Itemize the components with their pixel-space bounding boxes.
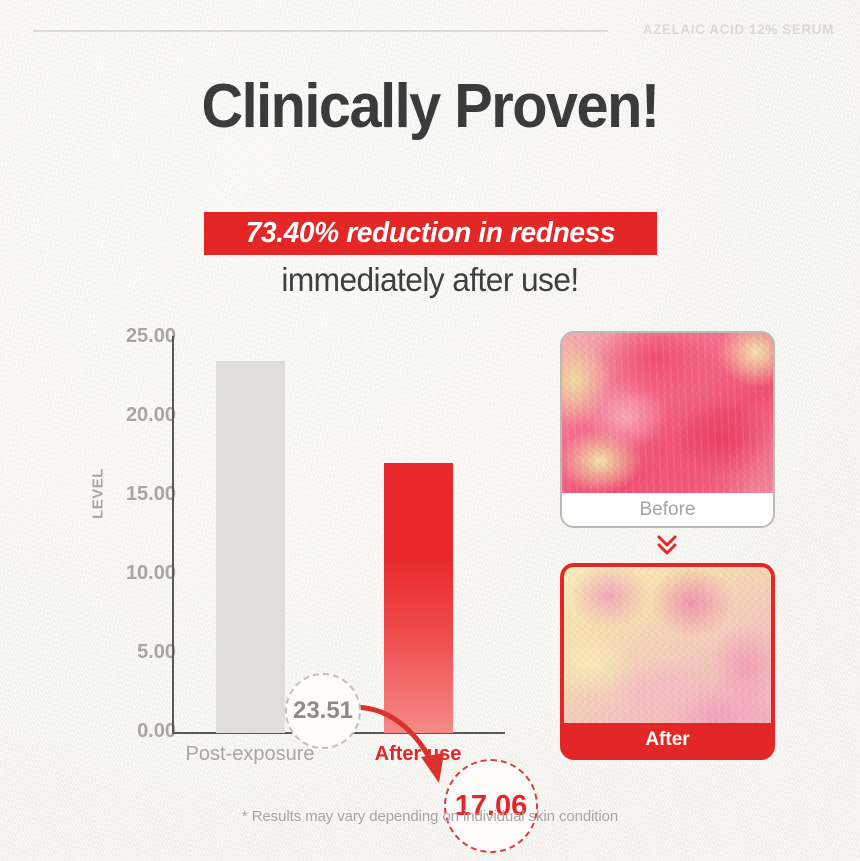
- y-axis-line: [172, 336, 174, 734]
- value-bubble-before-text: 23.51: [293, 697, 353, 725]
- y-tick-10: 10.00: [84, 562, 176, 585]
- bar-after-use: [384, 463, 453, 733]
- y-tick-25: 25.00: [84, 325, 176, 348]
- subheadline: immediately after use!: [17, 261, 843, 299]
- y-tick-0: 0.00: [84, 720, 176, 743]
- photo-card-before: Before: [560, 331, 775, 528]
- photo-grain-overlay: [562, 333, 773, 493]
- value-bubble-after: 17.06: [444, 759, 538, 853]
- skin-photo-before: [562, 333, 773, 493]
- value-bubble-before: 23.51: [285, 673, 361, 749]
- footnote-disclaimer: * Results may vary depending on individu…: [0, 808, 860, 825]
- skin-photo-after: [564, 567, 771, 727]
- y-tick-5: 5.00: [84, 641, 176, 664]
- infographic-canvas: AZELAIC ACID 12% SERUM Clinically Proven…: [0, 0, 860, 861]
- brand-label: AZELAIC ACID 12% SERUM: [624, 22, 834, 37]
- double-chevron-down-icon: [634, 532, 700, 558]
- photo-caption-after: After: [564, 723, 771, 756]
- header-divider-rule: [33, 30, 608, 32]
- photo-card-after: After: [560, 563, 775, 760]
- highlight-banner-text: 73.40% reduction in redness: [246, 217, 615, 250]
- photo-caption-before: Before: [562, 493, 773, 526]
- page-title: Clinically Proven!: [30, 76, 830, 138]
- redness-bar-chart: LEVEL 25.00 20.00 15.00 10.00 5.00 0.00 …: [40, 325, 520, 775]
- photo-grain-overlay: [564, 567, 771, 727]
- y-tick-15: 15.00: [84, 483, 176, 506]
- bar-post-exposure: [216, 361, 285, 733]
- highlight-banner: 73.40% reduction in redness: [204, 212, 657, 255]
- y-axis-ticks: 25.00 20.00 15.00 10.00 5.00 0.00: [40, 325, 176, 775]
- y-tick-20: 20.00: [84, 404, 176, 427]
